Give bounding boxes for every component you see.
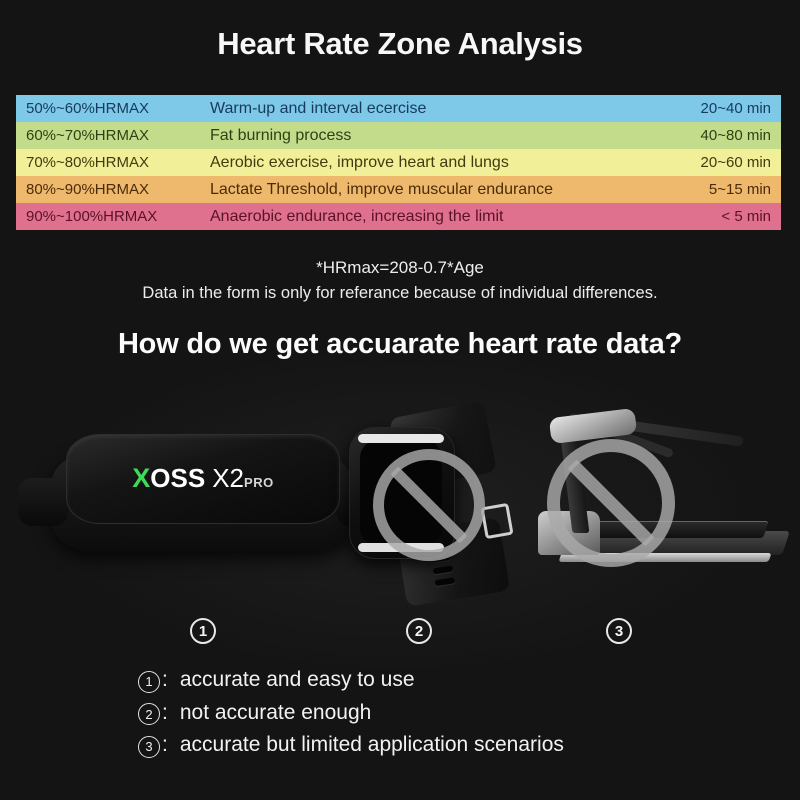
list-item: 2 : not accurate enough — [138, 701, 778, 726]
legend-colon: : — [162, 733, 168, 757]
marker-3: 3 — [606, 618, 632, 644]
zone-description: Lactate Threshold, improve muscular endu… — [208, 181, 661, 199]
zone-duration: 5~15 min — [661, 181, 781, 198]
legend: 1 : accurate and easy to use 2 : not acc… — [138, 668, 778, 766]
list-item: 1 : accurate and easy to use — [138, 668, 778, 693]
legend-text-3: accurate but limited application scenari… — [180, 733, 564, 757]
marker-2: 2 — [406, 618, 432, 644]
logo-pro-text: PRO — [244, 475, 274, 490]
zone-duration: 20~40 min — [661, 100, 781, 117]
legend-number-3: 3 — [138, 736, 160, 758]
zone-description: Anaerobic endurance, increasing the limi… — [208, 208, 661, 226]
image-number-markers: 1 2 3 — [0, 612, 800, 652]
heart-rate-zone-table: 50%~60%HRMAX Warm-up and interval ecerci… — [16, 95, 781, 230]
legend-text-1: accurate and easy to use — [180, 668, 415, 692]
heart-rate-sensor-image: XOSSX2PRO — [52, 428, 352, 578]
zone-duration: 40~80 min — [661, 127, 781, 144]
table-row: 70%~80%HRMAX Aerobic exercise, improve h… — [16, 149, 781, 176]
zone-duration: 20~60 min — [661, 154, 781, 171]
zone-percent: 80%~90%HRMAX — [16, 181, 208, 198]
page-title: Heart Rate Zone Analysis — [0, 26, 800, 62]
legend-text-2: not accurate enough — [180, 701, 371, 725]
zone-percent: 60%~70%HRMAX — [16, 127, 208, 144]
zone-description: Fat burning process — [208, 127, 661, 145]
table-row: 80%~90%HRMAX Lactate Threshold, improve … — [16, 176, 781, 203]
legend-colon: : — [162, 701, 168, 725]
logo-x-glyph: X — [132, 463, 150, 493]
list-item: 3 : accurate but limited application sce… — [138, 733, 778, 758]
hrmax-formula-note: *HRmax=208-0.7*Age — [0, 258, 800, 278]
legend-number-2: 2 — [138, 703, 160, 725]
logo-oss-text: OSS — [150, 463, 205, 493]
zone-percent: 90%~100%HRMAX — [16, 208, 208, 225]
table-row: 50%~60%HRMAX Warm-up and interval ecerci… — [16, 95, 781, 122]
zone-percent: 50%~60%HRMAX — [16, 100, 208, 117]
marker-1: 1 — [190, 618, 216, 644]
sensor-pod: XOSSX2PRO — [66, 434, 340, 524]
legend-colon: : — [162, 668, 168, 692]
table-row: 60%~70%HRMAX Fat burning process 40~80 m… — [16, 122, 781, 149]
zone-description: Warm-up and interval ecercise — [208, 100, 661, 118]
reference-disclaimer-note: Data in the form is only for referance b… — [0, 284, 800, 303]
prohibition-icon — [547, 439, 675, 567]
legend-number-1: 1 — [138, 671, 160, 693]
zone-percent: 70%~80%HRMAX — [16, 154, 208, 171]
zone-description: Aerobic exercise, improve heart and lung… — [208, 154, 661, 172]
product-comparison-images: XOSSX2PRO — [0, 395, 800, 620]
xoss-logo: XOSSX2PRO — [67, 465, 339, 492]
section-heading: How do we get accuarate heart rate data? — [0, 328, 800, 361]
infographic-page: Heart Rate Zone Analysis 50%~60%HRMAX Wa… — [0, 0, 800, 800]
watch-bezel-highlight-top — [358, 434, 444, 443]
prohibition-icon — [373, 449, 485, 561]
zone-duration: < 5 min — [661, 208, 781, 225]
watch-buckle — [480, 503, 513, 539]
table-row: 90%~100%HRMAX Anaerobic endurance, incre… — [16, 203, 781, 230]
logo-model-text: X2 — [212, 463, 244, 493]
